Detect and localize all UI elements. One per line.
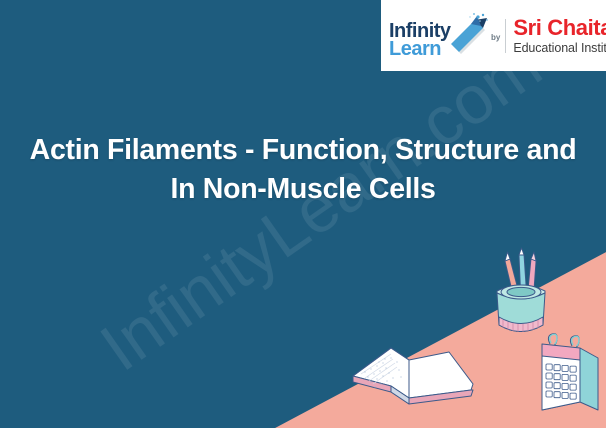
sri-chaitanya-logo: Sri Chaitanya Educational Institutions: [513, 17, 606, 55]
infinity-learn-word-learn: Learn: [389, 39, 441, 59]
open-book-illustration: [335, 332, 485, 428]
logo-inner-row: Infinity Learn by Sri Chai: [381, 0, 606, 71]
sri-chaitanya-subtitle: Educational Institutions: [513, 42, 606, 55]
sri-chaitanya-title: Sri Chaitanya: [513, 17, 606, 39]
page-title: Actin Filaments - Function, Structure an…: [0, 131, 606, 210]
poster-canvas: InfinityLearn.com Infinity Learn: [0, 0, 606, 428]
infinity-learn-logo: Infinity Learn: [389, 10, 489, 62]
brand-logo-lockup: Infinity Learn by Sri Chai: [381, 0, 606, 71]
logo-divider: [505, 19, 506, 53]
desk-calendar-illustration: [532, 326, 606, 428]
infinity-learn-bird-mark: [447, 12, 493, 58]
